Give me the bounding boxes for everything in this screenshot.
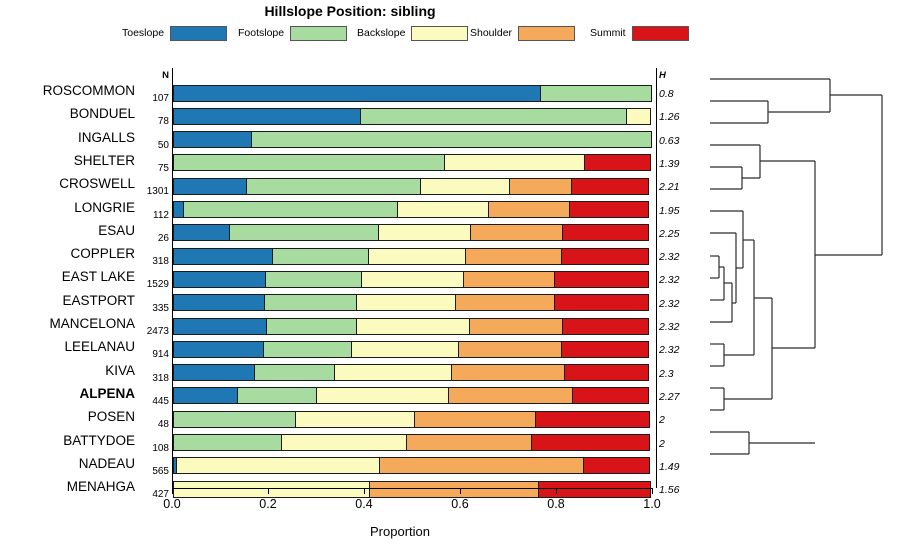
row-h-value: 2.27 [659,391,693,403]
row-label-battydoe: BATTYDOE [0,433,135,448]
row-h-value: 1.39 [659,158,693,170]
bar-segment-footslope[interactable] [237,387,318,404]
bar-segment-backslope[interactable] [351,341,459,358]
row-n-value: 318 [145,256,169,267]
row-h-value: 2 [659,438,693,450]
table-row[interactable]: INGALLS500.63 [145,129,710,151]
row-n-value: 75 [145,163,169,174]
bar-segment-shoulder[interactable] [414,411,535,428]
bar-segment-footslope[interactable] [272,248,369,265]
legend-item-summit[interactable]: Summit [590,24,689,42]
row-n-value: 26 [145,233,169,244]
legend-swatch [170,26,227,41]
stacked-bar[interactable] [173,318,653,335]
legend: ToeslopeFootslopeBackslopeShoulderSummit [0,24,710,44]
x-axis-line [172,488,653,489]
bar-segment-backslope[interactable] [295,411,415,428]
row-n-value: 335 [145,303,169,314]
bar-segment-backslope[interactable] [397,201,489,218]
bar-segment-footslope[interactable] [265,271,362,288]
bar-segment-summit[interactable] [554,294,649,311]
row-label-roscommon: ROSCOMMON [0,83,135,98]
bar-segment-toeslope[interactable] [173,178,247,195]
x-tick [556,488,557,494]
bar-segment-toeslope[interactable] [173,108,361,125]
table-row[interactable]: EASTPORT3352.32 [145,292,710,314]
bar-segment-summit[interactable] [571,178,649,195]
row-h-value: 2 [659,414,693,426]
bar-segment-summit[interactable] [572,387,649,404]
column-header-h: H [659,70,685,81]
row-n-value: 445 [145,396,169,407]
row-label-longrie: LONGRIE [0,200,135,215]
legend-swatch [632,26,689,41]
row-n-value: 50 [145,140,169,151]
x-axis: 0.00.20.40.60.81.0 [145,488,710,528]
bar-segment-footslope[interactable] [183,201,399,218]
stacked-bar[interactable] [173,248,653,265]
table-row[interactable]: ALPENA4452.27 [145,385,710,407]
bar-segment-backslope[interactable] [626,108,651,125]
row-h-value: 2.3 [659,368,693,380]
dendrogram [710,60,900,500]
stacked-bar[interactable] [173,85,653,102]
row-h-value: 1.49 [659,461,693,473]
row-h-value: 1.26 [659,111,693,123]
bar-segment-footslope[interactable] [360,108,627,125]
row-h-value: 2.25 [659,228,693,240]
table-row[interactable]: ROSCOMMON1070.8 [145,82,710,104]
bar-segment-backslope[interactable] [444,154,586,171]
plot-panel: N H ROSCOMMON1070.8BONDUEL781.26INGALLS5… [145,68,710,488]
row-n-value: 112 [145,210,169,221]
bar-segment-backslope[interactable] [316,387,449,404]
table-row[interactable]: BONDUEL781.26 [145,105,710,127]
table-row[interactable]: NADEAU5651.49 [145,455,710,477]
column-header-n: N [145,70,169,81]
bar-segment-backslope[interactable] [356,318,470,335]
legend-label: Backslope [357,27,405,39]
bar-segment-toeslope[interactable] [173,224,230,241]
x-tick [172,488,173,494]
row-n-value: 1301 [145,186,169,197]
x-tick [364,488,365,494]
row-h-value: 0.8 [659,88,693,100]
bar-segment-summit[interactable] [583,457,650,474]
table-row[interactable]: COPPLER3182.32 [145,245,710,267]
row-h-value: 2.21 [659,181,693,193]
legend-item-footslope[interactable]: Footslope [238,24,347,42]
legend-item-backslope[interactable]: Backslope [357,24,468,42]
bar-segment-toeslope[interactable] [173,387,238,404]
bar-segment-shoulder[interactable] [509,178,572,195]
bar-segment-footslope[interactable] [254,364,336,381]
bar-segment-shoulder[interactable] [465,248,561,265]
row-label-ingalls: INGALLS [0,130,135,145]
row-h-value: 2.32 [659,274,693,286]
dendrogram-svg [710,60,900,500]
bar-segment-toeslope[interactable] [173,294,265,311]
legend-swatch [518,26,575,41]
stacked-bar[interactable] [173,411,653,428]
x-tick [460,488,461,494]
table-row[interactable]: BATTYDOE1082 [145,432,710,454]
bar-segment-summit[interactable] [562,318,649,335]
row-h-value: 1.95 [659,205,693,217]
legend-label: Toeslope [122,27,164,39]
bar-segment-toeslope[interactable] [173,248,273,265]
table-row[interactable]: LONGRIE1121.95 [145,199,710,221]
legend-item-shoulder[interactable]: Shoulder [470,24,575,42]
row-label-eastport: EASTPORT [0,293,135,308]
bar-segment-footslope[interactable] [173,154,445,171]
row-label-croswell: CROSWELL [0,176,135,191]
bar-segment-backslope[interactable] [378,224,471,241]
x-axis-label: Proportion [145,524,655,539]
table-row[interactable]: ESAU262.25 [145,222,710,244]
legend-swatch [290,26,347,41]
bar-segment-toeslope[interactable] [173,364,255,381]
row-n-value: 1529 [145,279,169,290]
bar-segment-shoulder[interactable] [463,271,555,288]
legend-item-toeslope[interactable]: Toeslope [122,24,227,42]
bar-segment-backslope[interactable] [420,178,510,195]
bar-segment-toeslope[interactable] [173,131,252,148]
table-row[interactable]: MANCELONA24732.32 [145,315,710,337]
bar-segment-summit[interactable] [569,201,649,218]
bar-segment-footslope[interactable] [263,341,352,358]
bar-segment-summit[interactable] [531,434,650,451]
table-row[interactable]: KIVA3182.3 [145,362,710,384]
row-label-kiva: KIVA [0,363,135,378]
bar-segment-shoulder[interactable] [379,457,584,474]
stacked-bar[interactable] [173,364,653,381]
x-tick [268,488,269,494]
bar-segment-shoulder[interactable] [458,341,561,358]
bar-segment-summit[interactable] [561,341,649,358]
bar-segment-backslope[interactable] [281,434,407,451]
bar-segment-backslope[interactable] [334,364,452,381]
row-n-value: 318 [145,373,169,384]
table-row[interactable]: SHELTER751.39 [145,152,710,174]
bar-segment-footslope[interactable] [266,318,357,335]
row-n-value: 48 [145,419,169,430]
stacked-bar[interactable] [173,201,653,218]
x-tick-label: 1.0 [643,497,660,511]
bar-segment-shoulder[interactable] [470,224,563,241]
table-row[interactable]: EAST LAKE15292.32 [145,268,710,290]
bar-segment-backslope[interactable] [176,457,380,474]
row-h-value: 2.32 [659,298,693,310]
stacked-bar[interactable] [173,271,653,288]
row-label-menahga: MENAHGA [0,479,135,494]
stacked-bar[interactable] [173,131,653,148]
bar-segment-footslope[interactable] [251,131,652,148]
stacked-bar[interactable] [173,457,653,474]
bar-segment-footslope[interactable] [264,294,357,311]
x-tick [652,488,653,494]
x-tick-label: 0.2 [259,497,276,511]
row-h-value: 2.32 [659,321,693,333]
bar-segment-shoulder[interactable] [451,364,565,381]
bar-segment-footslope[interactable] [540,85,652,102]
row-label-mancelona: MANCELONA [0,316,135,331]
row-h-value: 2.32 [659,251,693,263]
row-label-nadeau: NADEAU [0,456,135,471]
stacked-bar[interactable] [173,178,653,195]
row-n-value: 565 [145,466,169,477]
bar-segment-backslope[interactable] [361,271,464,288]
bar-segment-toeslope[interactable] [173,341,264,358]
row-n-value: 108 [145,443,169,454]
x-tick-label: 0.6 [451,497,468,511]
page-title: Hillslope Position: sibling [0,3,700,19]
legend-swatch [411,26,468,41]
legend-label: Summit [590,27,626,39]
bar-segment-summit[interactable] [535,411,650,428]
bar-segment-toeslope[interactable] [173,318,267,335]
bar-segment-footslope[interactable] [173,411,296,428]
row-h-value: 0.63 [659,135,693,147]
row-label-alpena: ALPENA [0,386,135,401]
bar-segment-footslope[interactable] [229,224,379,241]
bar-segment-summit[interactable] [562,224,649,241]
bar-segment-shoulder[interactable] [469,318,564,335]
legend-label: Shoulder [470,27,512,39]
row-label-east-lake: EAST LAKE [0,269,135,284]
row-n-value: 914 [145,349,169,360]
bar-segment-summit[interactable] [561,248,649,265]
row-label-posen: POSEN [0,409,135,424]
bar-segment-footslope[interactable] [246,178,421,195]
row-n-value: 78 [145,116,169,127]
bar-segment-summit[interactable] [584,154,651,171]
stacked-bar[interactable] [173,224,653,241]
row-h-value: 2.32 [659,344,693,356]
bar-segment-shoulder[interactable] [488,201,570,218]
row-label-coppler: COPPLER [0,246,135,261]
bar-segment-summit[interactable] [564,364,649,381]
stacked-bar[interactable] [173,108,653,125]
stacked-bar[interactable] [173,154,653,171]
bar-segment-shoulder[interactable] [455,294,555,311]
stacked-bar[interactable] [173,434,653,451]
chart-root: Hillslope Position: sibling ToeslopeFoot… [0,0,900,560]
table-row[interactable]: POSEN482 [145,408,710,430]
stacked-bar[interactable] [173,341,653,358]
legend-label: Footslope [238,27,284,39]
stacked-bar[interactable] [173,294,653,311]
bar-segment-footslope[interactable] [173,434,282,451]
row-n-value: 2473 [145,326,169,337]
row-label-shelter: SHELTER [0,153,135,168]
x-tick-label: 0.8 [547,497,564,511]
row-label-leelanau: LEELANAU [0,339,135,354]
bar-segment-toeslope[interactable] [173,271,266,288]
table-row[interactable]: CROSWELL13012.21 [145,175,710,197]
row-label-esau: ESAU [0,223,135,238]
bar-segment-shoulder[interactable] [406,434,532,451]
x-tick-label: 0.4 [355,497,372,511]
bar-segment-summit[interactable] [554,271,649,288]
bar-segment-shoulder[interactable] [448,387,573,404]
x-tick-label: 0.0 [163,497,180,511]
bar-segment-backslope[interactable] [356,294,456,311]
row-label-bonduel: BONDUEL [0,106,135,121]
row-n-value: 107 [145,93,169,104]
table-row[interactable]: LEELANAU9142.32 [145,338,710,360]
stacked-bar[interactable] [173,387,653,404]
bar-segment-backslope[interactable] [368,248,466,265]
bar-segment-toeslope[interactable] [173,85,541,102]
